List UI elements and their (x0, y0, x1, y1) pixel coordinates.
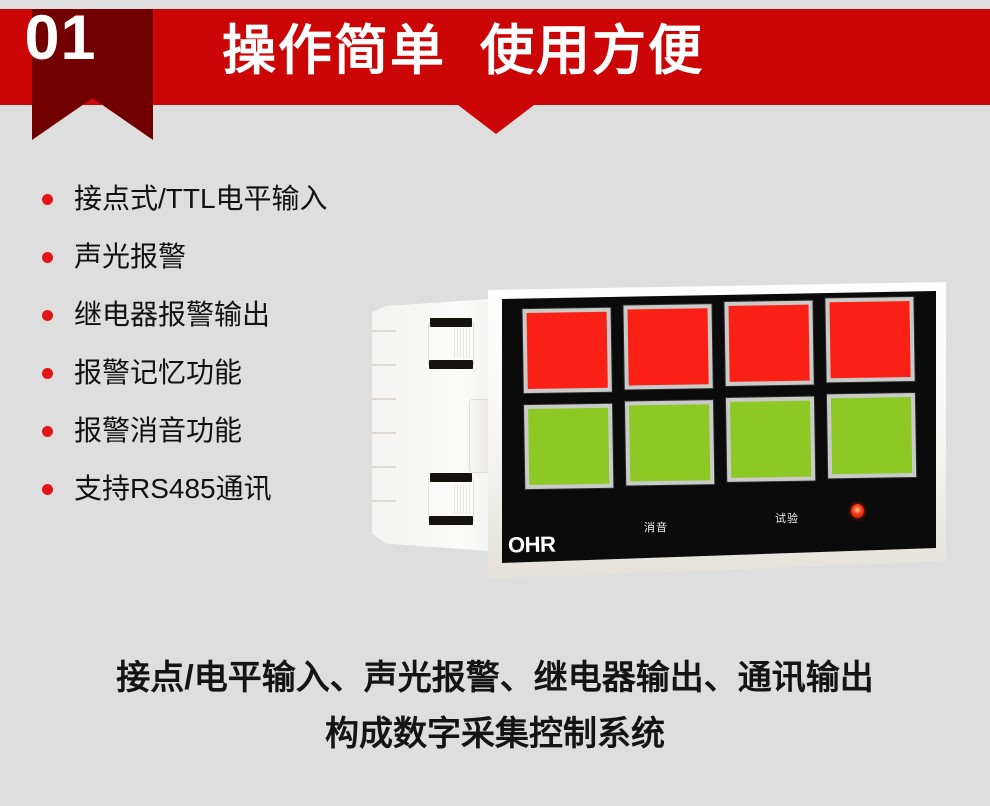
lamp-grid (523, 303, 922, 499)
list-item: 接点式/TTL电平输入 (36, 178, 416, 220)
mounting-clip-slot (430, 473, 472, 482)
lamp-face (628, 308, 709, 385)
alarm-lamp-red[interactable] (523, 308, 612, 393)
bullet-icon (42, 368, 53, 379)
feature-label: 报警消音功能 (74, 415, 242, 446)
mute-button-label[interactable]: 消音 (644, 519, 668, 535)
feature-label: 接点式/TTL电平输入 (74, 183, 328, 214)
bullet-icon (42, 252, 53, 263)
alarm-lamp-red[interactable] (825, 297, 914, 382)
caption: 接点/电平输入、声光报警、继电器输出、通讯输出 构成数字采集控制系统 (0, 650, 990, 762)
lamp-face (831, 397, 912, 474)
lamp-face (527, 312, 608, 389)
feature-label: 报警记忆功能 (74, 357, 242, 388)
caption-line-2: 构成数字采集控制系统 (0, 706, 990, 762)
alarm-lamp-green[interactable] (625, 400, 714, 485)
lamp-face (629, 404, 710, 481)
list-item: 声光报警 (36, 236, 416, 278)
bullet-icon (42, 484, 53, 495)
feature-label: 继电器报警输出 (74, 299, 270, 330)
header-arrow-icon (458, 105, 534, 134)
list-item: 报警消音功能 (36, 410, 416, 452)
device-photo: 消音 试验 OHR (372, 282, 972, 582)
lamp-face (730, 401, 811, 478)
section-number-label: 01 (0, 7, 121, 70)
alarm-lamp-red[interactable] (623, 304, 712, 389)
bullet-icon (42, 426, 53, 437)
alarm-lamp-green[interactable] (827, 393, 916, 478)
alarm-lamp-green[interactable] (524, 404, 613, 489)
housing-ridge (372, 466, 396, 468)
list-item: 继电器报警输出 (36, 294, 416, 336)
alarm-lamp-green[interactable] (726, 397, 815, 482)
brand-logo: OHR (508, 532, 556, 559)
list-item: 支持RS485通讯 (36, 468, 416, 510)
promo-page: 01 操作简单 使用方便 接点式/TTL电平输入 声光报警 继电器报警输出 报警… (0, 0, 990, 806)
lamp-face (528, 408, 609, 485)
feature-label: 声光报警 (74, 241, 186, 272)
feature-label: 支持RS485通讯 (74, 473, 272, 504)
lamp-face (829, 301, 910, 378)
mounting-clip-ribs (454, 484, 472, 514)
housing-ridge (372, 364, 396, 366)
mounting-clip-slot (429, 516, 473, 525)
feature-list: 接点式/TTL电平输入 声光报警 继电器报警输出 报警记忆功能 报警消音功能 支… (36, 178, 416, 526)
mounting-clip-slot (429, 360, 473, 369)
housing-ridge (372, 432, 396, 434)
test-button-label[interactable]: 试验 (775, 510, 799, 526)
housing-ridge (372, 330, 396, 332)
list-item: 报警记忆功能 (36, 352, 416, 394)
bullet-icon (42, 194, 53, 205)
power-led-icon (851, 504, 864, 518)
bullet-icon (42, 310, 53, 321)
page-title: 操作简单 使用方便 (222, 19, 704, 84)
housing-ridge (372, 500, 396, 502)
mounting-clip-ribs (454, 328, 472, 358)
lamp-face (729, 305, 810, 382)
mounting-clip-slot (430, 318, 472, 327)
housing-ridge (372, 398, 396, 400)
alarm-lamp-red[interactable] (724, 301, 813, 386)
caption-line-1: 接点/电平输入、声光报警、继电器输出、通讯输出 (0, 650, 990, 706)
